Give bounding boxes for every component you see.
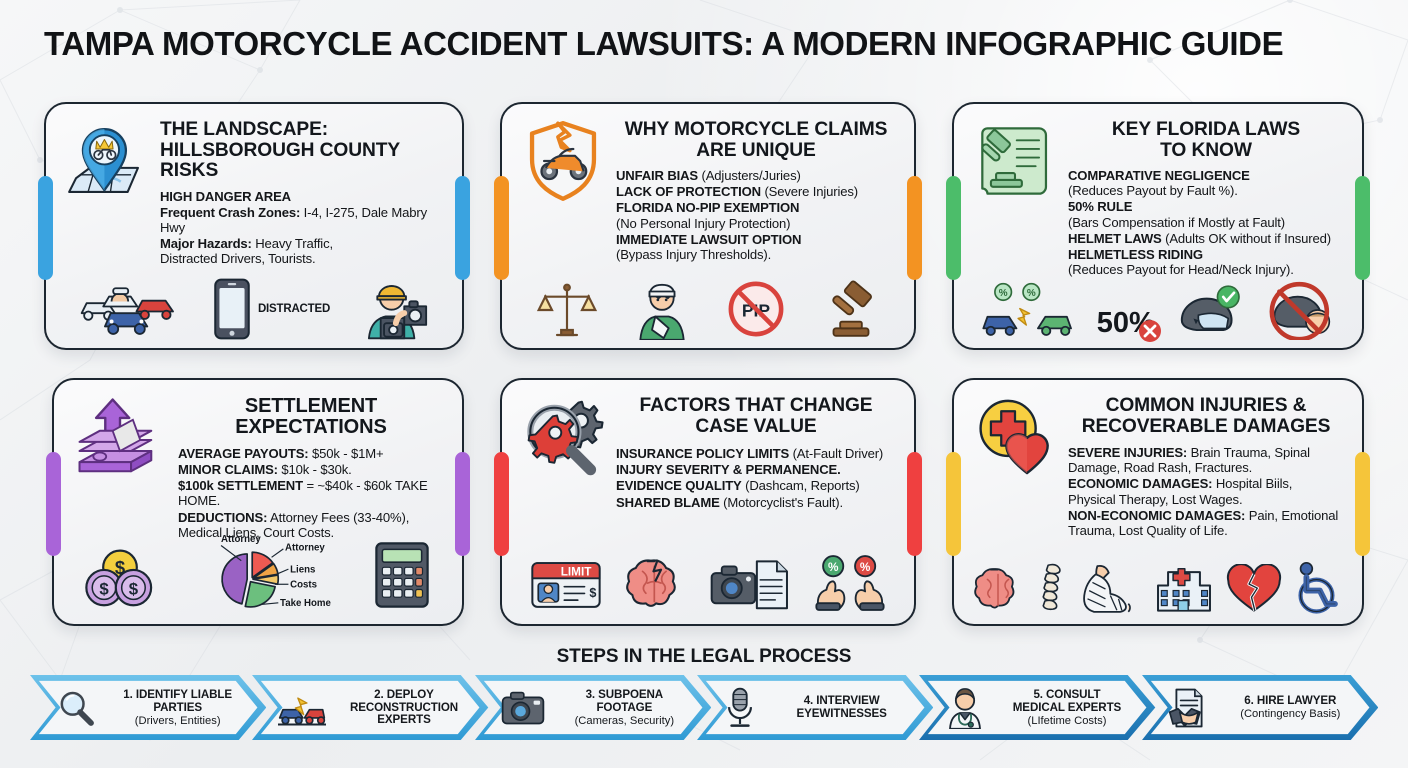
svg-text:%: %	[999, 288, 1008, 299]
svg-text:%: %	[860, 561, 871, 574]
spine-icon	[1035, 562, 1071, 614]
bullet-item: MINOR CLAIMS: $10k - $30k.	[178, 462, 444, 477]
hospital-icon	[1153, 562, 1215, 614]
broken-leg-cast-icon	[1081, 564, 1143, 614]
card-landscape: THE LANDSCAPE: HILLSBOROUGH COUNTY RISKS…	[44, 102, 464, 350]
broken-heart-icon	[1225, 564, 1283, 614]
card-bullets: UNFAIR BIAS (Adjusters/Juries) LACK OF P…	[616, 168, 896, 262]
scales-of-justice-icon	[535, 280, 599, 340]
shield-motorcycle-icon	[520, 118, 606, 204]
bullet-item: UNFAIR BIAS (Adjusters/Juries)	[616, 168, 896, 183]
step-1[interactable]: 1. IDENTIFY LIABLE PARTIES (Drivers, Ent…	[30, 675, 266, 741]
card-case-value: FACTORS THAT CHANGE CASE VALUE INSURANCE…	[500, 378, 916, 626]
pie-label-liens: Liens	[290, 564, 315, 575]
step-3[interactable]: 3. SUBPOENA FOOTAGE (Cameras, Security)	[475, 675, 711, 741]
card-settlement: SETTLEMENT EXPECTATIONS AVERAGE PAYOUTS:…	[52, 378, 464, 626]
camera-report-icon	[710, 556, 792, 612]
card-unique-claims: WHY MOTORCYCLE CLAIMS ARE UNIQUE UNFAIR …	[500, 102, 916, 350]
card-bullets: COMPARATIVE NEGLIGENCE(Reduces Payout by…	[1068, 168, 1344, 277]
calculator-icon	[371, 540, 433, 610]
svg-text:$: $	[100, 579, 110, 598]
page-title: TAMPA MOTORCYCLE ACCIDENT LAWSUITS: A MO…	[44, 26, 1283, 64]
pie-label-attorney: Attorney	[285, 543, 325, 554]
step-2[interactable]: 2. DEPLOY RECONSTRUCTION EXPERTS	[252, 675, 488, 741]
no-helmet-prohibited-icon	[1266, 280, 1336, 340]
step-label: 4. INTERVIEW EYEWITNESSES	[764, 695, 919, 721]
svg-text:LIMIT: LIMIT	[560, 566, 592, 579]
step-4[interactable]: 4. INTERVIEW EYEWITNESSES	[697, 675, 933, 741]
medical-cross-heart-icon	[972, 394, 1058, 480]
red-x-badge-icon	[1137, 318, 1163, 344]
bullet-item: AVERAGE PAYOUTS: $50k - $1M+	[178, 446, 444, 461]
map-pin-motorcycle-icon	[64, 118, 150, 204]
bullet-item: SHARED BLAME (Motorcyclist's Fault).	[616, 495, 896, 510]
photographer-icon	[357, 276, 433, 340]
bullet-item: LACK OF PROTECTION (Severe Injuries)	[616, 184, 896, 199]
card-title: THE LANDSCAPE: HILLSBOROUGH COUNTY RISKS	[160, 120, 444, 182]
step-label: 2. DEPLOY RECONSTRUCTION EXPERTS	[333, 689, 474, 727]
gavel-icon	[820, 280, 882, 340]
car-crash-icon	[278, 688, 326, 728]
brain-icon	[971, 566, 1025, 614]
svg-text:%: %	[828, 561, 839, 574]
card-title: SETTLEMENT EXPECTATIONS	[178, 396, 444, 439]
bullet-item: SEVERE INJURIES: Brain Trauma, SpinalDam…	[1068, 445, 1344, 475]
two-car-collision-percent-icon: % %	[980, 282, 1076, 340]
handshake-document-icon	[1168, 687, 1210, 729]
bullet-item: INJURY SEVERITY & PERMANENCE.	[616, 462, 896, 477]
card-bullets: AVERAGE PAYOUTS: $50k - $1M+ MINOR CLAIM…	[178, 446, 444, 540]
step-label: 5. CONSULT MEDICAL EXPERTS (LIfetime Cos…	[992, 689, 1141, 727]
bullet-item: Frequent Crash Zones: I-4, I-275, Dale M…	[160, 205, 444, 235]
bullet-item: HIGH DANGER AREA	[160, 189, 444, 204]
card-icon-strip: % % 50%	[954, 280, 1362, 340]
no-pip-prohibited-icon: PIP	[725, 278, 787, 340]
card-title: COMMON INJURIES & RECOVERABLE DAMAGES	[1068, 396, 1344, 437]
card-icon-strip: DISTRACTED	[46, 276, 462, 340]
bullet-item: EVIDENCE QUALITY (Dashcam, Reports)	[616, 478, 896, 493]
bullet-item: IMMEDIATE LAWSUIT OPTION(Bypass Injury T…	[616, 232, 896, 262]
brain-injury-icon	[624, 556, 688, 612]
distracted-label: DISTRACTED	[258, 303, 330, 315]
pie-label-attorney-top: Attorney	[221, 534, 261, 545]
step-6[interactable]: 6. HIRE LAWYER (Contingency Basis)	[1142, 675, 1378, 741]
bullet-item: NON-ECONOMIC DAMAGES: Pain, EmotionalTra…	[1068, 508, 1344, 538]
card-bullets: SEVERE INJURIES: Brain Trauma, SpinalDam…	[1068, 445, 1344, 538]
bullet-item: $100k SETTLEMENT = ~$40k - $60k TAKEHOME…	[178, 478, 444, 508]
dollar-coins-icon: $ $ $	[83, 542, 157, 608]
card-icon-strip: $ $ $ Attorney	[54, 532, 462, 618]
bullet-item: COMPARATIVE NEGLIGENCE(Reduces Payout by…	[1068, 168, 1344, 198]
step-label: 6. HIRE LAWYER (Contingency Basis)	[1217, 695, 1364, 720]
steps-row: 1. IDENTIFY LIABLE PARTIES (Drivers, Ent…	[30, 675, 1378, 741]
card-title: KEY FLORIDA LAWS TO KNOW	[1068, 120, 1344, 161]
step-label: 3. SUBPOENA FOOTAGE (Cameras, Security)	[552, 689, 697, 727]
card-icon-strip: LIMIT $	[502, 554, 914, 612]
distracted-phone-icon	[210, 278, 254, 340]
steps-section-heading: STEPS IN THE LEGAL PROCESS	[0, 646, 1408, 668]
bullet-item: HELMETLESS RIDING(Reduces Payout for Hea…	[1068, 247, 1344, 277]
magnifier-gears-icon	[520, 394, 606, 480]
bullet-item: ECONOMIC DAMAGES: Hospital Biils,Physica…	[1068, 476, 1344, 506]
svg-text:$: $	[129, 579, 139, 598]
bullet-item: FLORIDA NO-PIP EXEMPTION(No Personal Inj…	[616, 200, 896, 230]
card-bullets: INSURANCE POLICY LIMITS (At-Fault Driver…	[616, 446, 896, 510]
traffic-jam-cars-icon	[75, 278, 183, 340]
money-stack-arrow-icon	[72, 394, 168, 486]
bullet-item: Major Hazards: Heavy Traffic,Distracted …	[160, 236, 444, 266]
microphone-icon	[723, 687, 757, 729]
step-5[interactable]: 5. CONSULT MEDICAL EXPERTS (LIfetime Cos…	[919, 675, 1155, 741]
bullet-item: INSURANCE POLICY LIMITS (At-Fault Driver…	[616, 446, 896, 461]
wheelchair-icon	[1293, 562, 1345, 614]
injured-person-icon	[632, 278, 692, 340]
camera-icon	[501, 689, 545, 727]
pie-label-take-home: Take Home	[280, 598, 332, 609]
settlement-pie-chart: Attorney Attorney Liens Costs	[184, 532, 344, 618]
doctor-icon	[945, 687, 985, 729]
svg-text:%: %	[1027, 288, 1036, 299]
card-icon-strip: PIP	[502, 278, 914, 340]
card-title: WHY MOTORCYCLE CLAIMS ARE UNIQUE	[616, 120, 896, 161]
bullet-item: HELMET LAWS (Adults OK without if Insure…	[1068, 231, 1344, 246]
step-label: 1. IDENTIFY LIABLE PARTIES (Drivers, Ent…	[103, 689, 252, 727]
magnifier-icon	[56, 688, 96, 728]
card-florida-laws: KEY FLORIDA LAWS TO KNOW COMPARATIVE NEG…	[952, 102, 1364, 350]
pie-label-costs: Costs	[290, 580, 317, 591]
card-title: FACTORS THAT CHANGE CASE VALUE	[616, 396, 896, 437]
svg-text:$: $	[589, 586, 596, 600]
bullet-item: 50% RULE(Bars Compensation if Mostly at …	[1068, 199, 1344, 229]
card-icon-strip	[954, 562, 1362, 614]
card-injuries-damages: COMMON INJURIES & RECOVERABLE DAMAGES SE…	[952, 378, 1364, 626]
insurance-card-limit-icon: LIMIT $	[529, 558, 603, 612]
helmet-check-icon	[1175, 282, 1245, 340]
gavel-scroll-icon	[972, 118, 1058, 204]
percent-hands-icon: % %	[813, 554, 887, 612]
card-bullets: HIGH DANGER AREA Frequent Crash Zones: I…	[160, 189, 444, 267]
